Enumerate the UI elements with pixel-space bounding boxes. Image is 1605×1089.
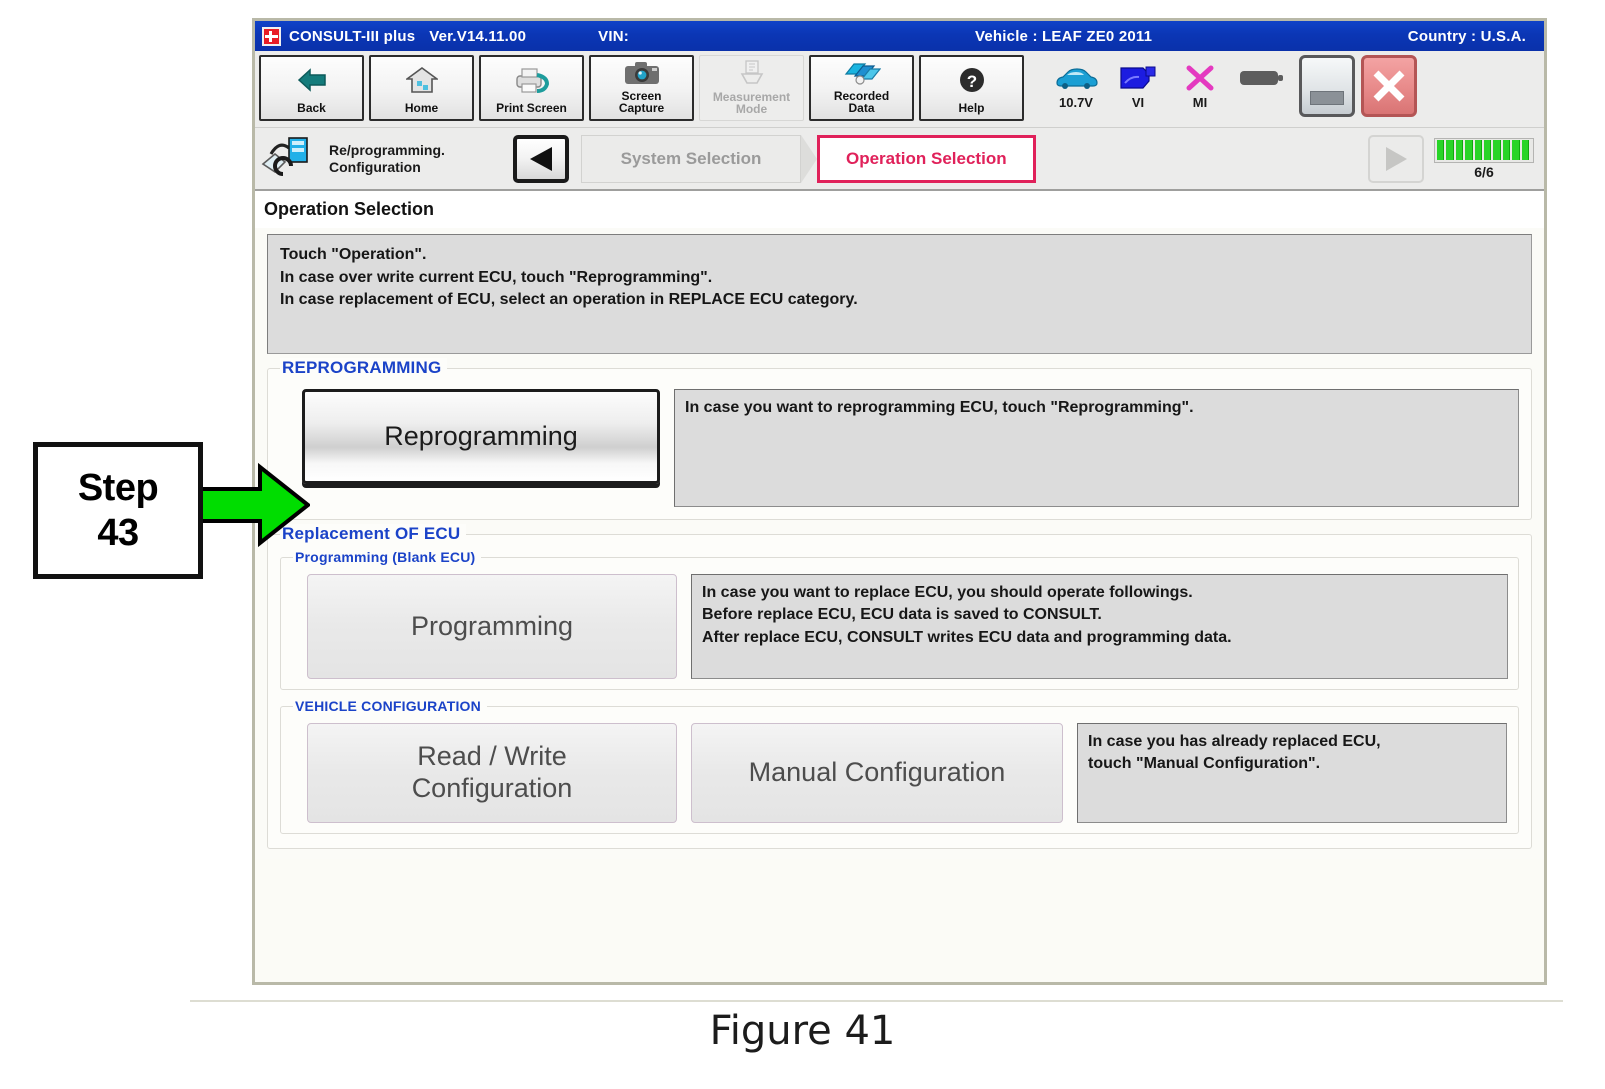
reprogramming-group-body: Reprogramming In case you want to reprog…: [280, 369, 1519, 507]
progress-bar: [1434, 138, 1534, 163]
progress-label: 6/6: [1474, 164, 1493, 180]
recorded-data-button[interactable]: Recorded Data: [809, 55, 914, 121]
country-label: Country : U.S.A.: [1408, 28, 1526, 45]
battery-status: [1231, 55, 1293, 95]
help-button-label: Help: [958, 102, 984, 115]
programming-description-line-1: In case you want to replace ECU, you sho…: [702, 582, 1497, 604]
reprogramming-button-label: Reprogramming: [384, 421, 578, 453]
close-button[interactable]: [1361, 55, 1417, 117]
programming-blank-ecu-title: Programming (Blank ECU): [293, 549, 481, 565]
measurement-icon: [700, 56, 803, 91]
mi-status: MI: [1169, 55, 1231, 110]
app-version-label: Ver.V14.11.00: [429, 28, 526, 45]
figure-page: Step 43 CONSULT-III plus Ver.V14.11.00 V…: [0, 0, 1605, 1089]
programming-description: In case you want to replace ECU, you sho…: [691, 574, 1508, 679]
vi-status-label: VI: [1132, 95, 1144, 110]
svg-text:?: ?: [966, 72, 976, 91]
navigation-bar: Re/programming. Configuration System Sel…: [255, 127, 1544, 189]
vin-label: VIN:: [598, 28, 629, 45]
battery-icon: [1239, 61, 1285, 95]
help-button[interactable]: ? Help: [919, 55, 1024, 121]
mode-label-line2: Configuration: [329, 159, 445, 175]
vehicle-configuration-description: In case you has already replaced ECU, to…: [1077, 723, 1507, 823]
measurement-mode-button[interactable]: Measurement Mode: [699, 55, 804, 121]
breadcrumb-operation-selection-label: Operation Selection: [846, 149, 1007, 169]
vi-status: VI: [1107, 55, 1169, 110]
programming-description-line-3: After replace ECU, CONSULT writes ECU da…: [702, 627, 1497, 649]
mode-label: Re/programming. Configuration: [329, 142, 445, 174]
breadcrumb-system-selection-label: System Selection: [621, 149, 762, 169]
programming-blank-ecu-subgroup: Programming (Blank ECU) Programming In c…: [280, 557, 1519, 690]
measurement-mode-line2: Mode: [736, 103, 767, 116]
breadcrumb: System Selection Operation Selection: [581, 135, 1036, 183]
step-callout-box: Step 43: [33, 442, 203, 579]
status-cluster: 10.7V VI: [1045, 55, 1293, 121]
page-title: Operation Selection: [255, 189, 1544, 228]
mi-status-label: MI: [1193, 95, 1207, 110]
instruction-line-3: In case replacement of ECU, select an op…: [280, 289, 1519, 312]
read-write-configuration-button[interactable]: Read / Write Configuration: [307, 723, 677, 823]
main-toolbar: Back Home: [255, 51, 1544, 127]
replacement-of-ecu-group: Replacement OF ECU Programming (Blank EC…: [267, 534, 1532, 849]
vehicle-configuration-description-line-1: In case you has already replaced ECU,: [1088, 731, 1496, 753]
vi-device-icon: [1119, 61, 1157, 95]
print-screen-button[interactable]: Print Screen: [479, 55, 584, 121]
triangle-left-icon: [528, 145, 554, 173]
caption-divider: [190, 1000, 1563, 1002]
consult-logo-icon: [262, 27, 281, 46]
battery-voltage-status: 10.7V: [1045, 55, 1107, 110]
green-right-arrow-icon: [188, 461, 310, 549]
triangle-right-icon: [1383, 145, 1409, 173]
screen-capture-line2: Capture: [619, 102, 664, 115]
vehicle-configuration-subgroup: VEHICLE CONFIGURATION Read / Write Confi…: [280, 706, 1519, 834]
previous-step-button[interactable]: [513, 135, 569, 183]
car-icon: [1053, 61, 1099, 95]
read-write-configuration-line1: Read / Write: [417, 741, 567, 771]
breadcrumb-system-selection[interactable]: System Selection: [581, 135, 801, 183]
step-callout-line2: 43: [97, 511, 138, 555]
battery-voltage-label: 10.7V: [1059, 95, 1093, 110]
printer-icon: [481, 57, 582, 102]
mode-indicator: Re/programming. Configuration: [261, 136, 513, 182]
camera-icon: [591, 57, 692, 90]
figure-caption: Figure 41: [0, 1008, 1605, 1054]
back-button[interactable]: Back: [259, 55, 364, 121]
home-button[interactable]: Home: [369, 55, 474, 121]
reprogramming-group-title: REPROGRAMMING: [280, 358, 447, 378]
help-icon: ?: [921, 57, 1022, 102]
instruction-line-2: In case over write current ECU, touch "R…: [280, 267, 1519, 290]
minimize-button[interactable]: [1299, 55, 1355, 117]
app-name-label: CONSULT-III plus: [289, 28, 415, 45]
programming-button-label: Programming: [411, 611, 573, 643]
recorded-data-icon: [811, 57, 912, 90]
step-callout-line1: Step: [78, 466, 158, 510]
breadcrumb-separator-icon: [801, 135, 817, 183]
reprogramming-button[interactable]: Reprogramming: [302, 389, 660, 484]
vehicle-configuration-description-line-2: touch "Manual Configuration".: [1088, 753, 1496, 775]
close-icon: [1369, 66, 1409, 106]
reprogramming-description: In case you want to reprogramming ECU, t…: [674, 389, 1519, 507]
instruction-line-1: Touch "Operation".: [280, 244, 1519, 267]
back-button-label: Back: [297, 102, 326, 115]
consult-app-window: CONSULT-III plus Ver.V14.11.00 VIN: Vehi…: [252, 18, 1547, 985]
step-progress: 6/6: [1434, 138, 1534, 180]
mode-label-line1: Re/programming.: [329, 142, 445, 158]
reprogramming-description-line-1: In case you want to reprogramming ECU, t…: [685, 397, 1508, 419]
programming-blank-ecu-body: Programming In case you want to replace …: [291, 558, 1508, 679]
mi-disconnected-icon: [1185, 61, 1215, 95]
next-step-button[interactable]: [1368, 135, 1424, 183]
recorded-data-line2: Data: [848, 102, 874, 115]
instruction-panel: Touch "Operation". In case over write cu…: [267, 234, 1532, 354]
screen-capture-button[interactable]: Screen Capture: [589, 55, 694, 121]
breadcrumb-operation-selection[interactable]: Operation Selection: [817, 135, 1036, 183]
home-icon: [371, 57, 472, 102]
content-area: Touch "Operation". In case over write cu…: [255, 228, 1544, 859]
minimize-icon: [1310, 91, 1344, 105]
read-write-configuration-line2: Configuration: [412, 773, 573, 803]
programming-button[interactable]: Programming: [307, 574, 677, 679]
manual-configuration-button[interactable]: Manual Configuration: [691, 723, 1063, 823]
read-write-configuration-label: Read / Write Configuration: [412, 741, 573, 805]
vehicle-label: Vehicle : LEAF ZE0 2011: [975, 28, 1152, 45]
title-bar: CONSULT-III plus Ver.V14.11.00 VIN: Vehi…: [255, 21, 1544, 51]
vehicle-configuration-title: VEHICLE CONFIGURATION: [293, 698, 487, 714]
reprogramming-config-icon: [261, 136, 319, 182]
reprogramming-group: REPROGRAMMING Reprogramming In case you …: [267, 368, 1532, 520]
back-arrow-icon: [261, 57, 362, 102]
vehicle-configuration-body: Read / Write Configuration Manual Config…: [291, 707, 1508, 823]
print-screen-button-label: Print Screen: [496, 102, 567, 115]
programming-description-line-2: Before replace ECU, ECU data is saved to…: [702, 604, 1497, 626]
manual-configuration-label: Manual Configuration: [749, 757, 1006, 789]
home-button-label: Home: [405, 102, 438, 115]
